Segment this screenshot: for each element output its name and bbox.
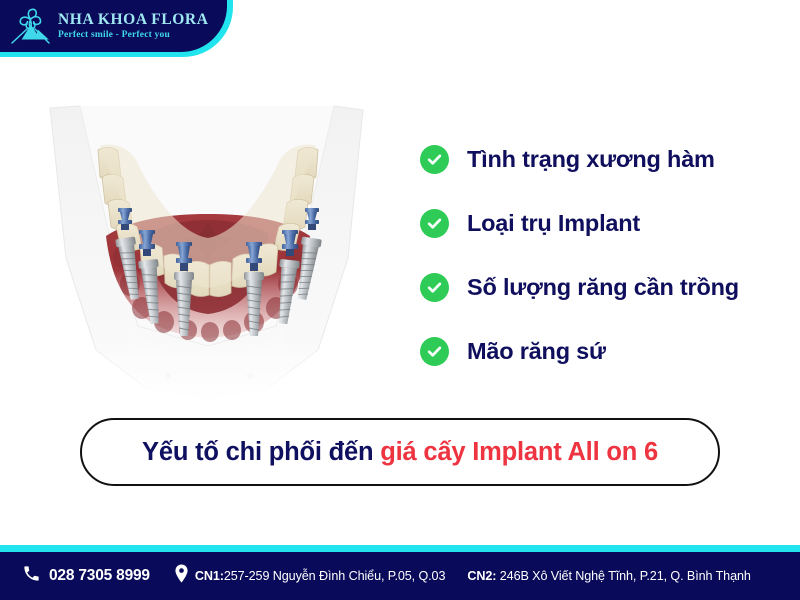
phone-icon xyxy=(22,564,41,588)
footer-branch-1-text: CN1:257-259 Nguyễn Đình Chiểu, P.05, Q.0… xyxy=(195,569,446,583)
list-item-label: Số lượng răng cần trồng xyxy=(467,274,739,301)
check-circle-icon xyxy=(420,273,449,302)
factors-checklist: Tình trạng xương hàm Loại trụ Implant Số… xyxy=(420,138,790,372)
dental-implant-all-on-6-illustration xyxy=(18,88,393,403)
poster-canvas: NHA KHOA FLORA Perfect smile - Perfect y… xyxy=(0,0,800,600)
footer-branch-2-address: 246B Xô Viết Nghệ Tĩnh, P.21, Q. Bình Th… xyxy=(500,569,751,583)
check-circle-icon xyxy=(420,337,449,366)
footer-branch-1-address: 257-259 Nguyễn Đình Chiểu, P.05, Q.03 xyxy=(224,569,446,583)
brand-tagline: Perfect smile - Perfect you xyxy=(58,29,209,41)
headline-banner: Yếu tố chi phối đến giá cấy Implant All … xyxy=(80,418,720,486)
list-item: Số lượng răng cần trồng xyxy=(420,266,790,308)
footer-branch-2-label: CN2: xyxy=(467,569,496,583)
footer-branch-2[interactable]: CN2: 246B Xô Viết Nghệ Tĩnh, P.21, Q. Bì… xyxy=(467,569,750,583)
list-item-label: Tình trạng xương hàm xyxy=(467,146,715,173)
headline-part-dark: Yếu tố chi phối đến xyxy=(142,438,380,466)
list-item-label: Loại trụ Implant xyxy=(467,210,640,237)
brand-text-block: NHA KHOA FLORA Perfect smile - Perfect y… xyxy=(58,11,209,41)
list-item: Mão răng sứ xyxy=(420,330,790,372)
main-content: Tình trạng xương hàm Loại trụ Implant Số… xyxy=(0,60,800,545)
list-item-label: Mão răng sứ xyxy=(467,338,606,365)
footer-branch-1-label: CN1: xyxy=(195,569,224,583)
footer-branch-1[interactable]: CN1:257-259 Nguyễn Đình Chiểu, P.05, Q.0… xyxy=(174,564,446,588)
flower-tooth-logo-icon xyxy=(8,4,54,48)
location-pin-icon xyxy=(174,564,189,588)
footer-branch-2-text: CN2: 246B Xô Viết Nghệ Tĩnh, P.21, Q. Bì… xyxy=(467,569,750,583)
headline-part-highlight: giá cấy Implant All on 6 xyxy=(380,438,658,466)
list-item: Tình trạng xương hàm xyxy=(420,138,790,180)
footer-accent-strip xyxy=(0,545,800,552)
brand-name: NHA KHOA FLORA xyxy=(58,11,209,29)
check-circle-icon xyxy=(420,209,449,238)
contact-footer: 028 7305 8999 CN1:257-259 Nguyễn Đình Ch… xyxy=(0,552,800,600)
headline-text: Yếu tố chi phối đến giá cấy Implant All … xyxy=(142,438,658,467)
footer-phone-group[interactable]: 028 7305 8999 xyxy=(22,564,150,588)
list-item: Loại trụ Implant xyxy=(420,202,790,244)
check-circle-icon xyxy=(420,145,449,174)
brand-header: NHA KHOA FLORA Perfect smile - Perfect y… xyxy=(0,0,227,52)
footer-phone-number: 028 7305 8999 xyxy=(49,567,150,585)
